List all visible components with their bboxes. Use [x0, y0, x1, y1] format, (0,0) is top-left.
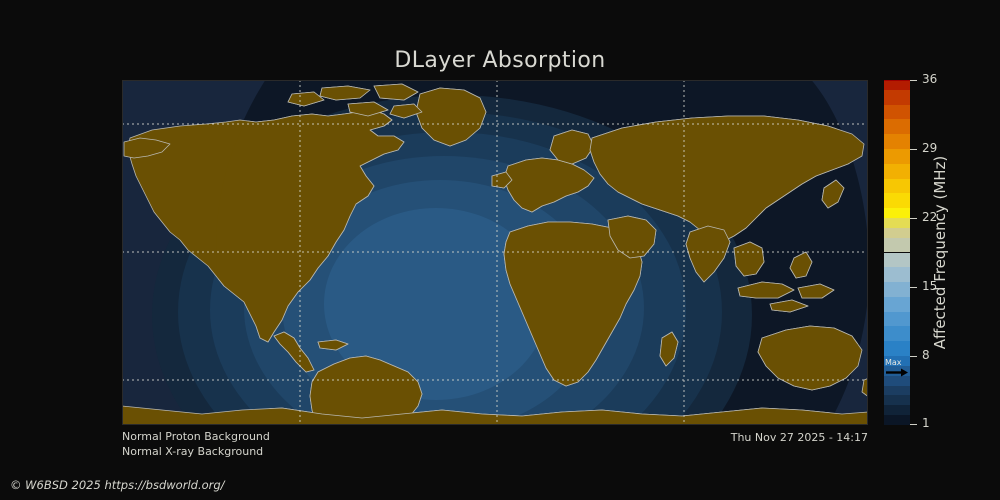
map-canvas [122, 80, 868, 425]
colorbar-band [884, 208, 910, 218]
colorbar-band [884, 119, 910, 134]
colorbar-band [884, 386, 910, 396]
footer-credit: © W6BSD 2025 https://bsdworld.org/ [10, 478, 225, 492]
colorbar-band [884, 164, 910, 179]
colorbar-band [884, 312, 910, 327]
colorbar-band [884, 341, 910, 356]
colorbar-band [884, 218, 910, 228]
colorbar-tick [910, 218, 917, 219]
colorbar-tick [910, 287, 917, 288]
colorbar-band [884, 105, 910, 120]
colorbar-band [884, 253, 910, 268]
colorbar-band [884, 405, 910, 415]
colorbar-band [884, 376, 910, 386]
colorbar-band [884, 179, 910, 194]
colorbar-band [884, 326, 910, 341]
colorbar-band [884, 415, 910, 425]
world-map[interactable] [122, 80, 868, 425]
colorbar-band [884, 80, 910, 81]
page-title: DLayer Absorption [0, 48, 1000, 73]
colorbar-band [884, 267, 910, 282]
colorbar-tick [910, 424, 917, 425]
colorbar-band [884, 80, 910, 90]
colorbar-max-label: Max [885, 358, 902, 367]
colorbar-band [884, 90, 910, 105]
timestamp: Thu Nov 27 2025 - 14:17 [0, 431, 868, 444]
colorbar[interactable]: Max 1815222936 [884, 80, 910, 425]
colorbar-band [884, 134, 910, 149]
colorbar-max-arrow-icon [885, 368, 909, 377]
colorbar-band [884, 395, 910, 405]
colorbar-tick [910, 80, 917, 81]
colorbar-band [884, 282, 910, 297]
xray-status: Normal X-ray Background [122, 444, 270, 459]
dlayer-absorption-screen: DLayer Absorption [0, 0, 1000, 500]
colorbar-band [884, 228, 910, 238]
colorbar-tick [910, 356, 917, 357]
colorbar-band [884, 238, 910, 253]
colorbar-axis-label: Affected Frequency (MHz) [929, 80, 951, 425]
colorbar-band [884, 193, 910, 208]
colorbar-tick [910, 149, 917, 150]
colorbar-band [884, 149, 910, 164]
colorbar-band [884, 297, 910, 312]
